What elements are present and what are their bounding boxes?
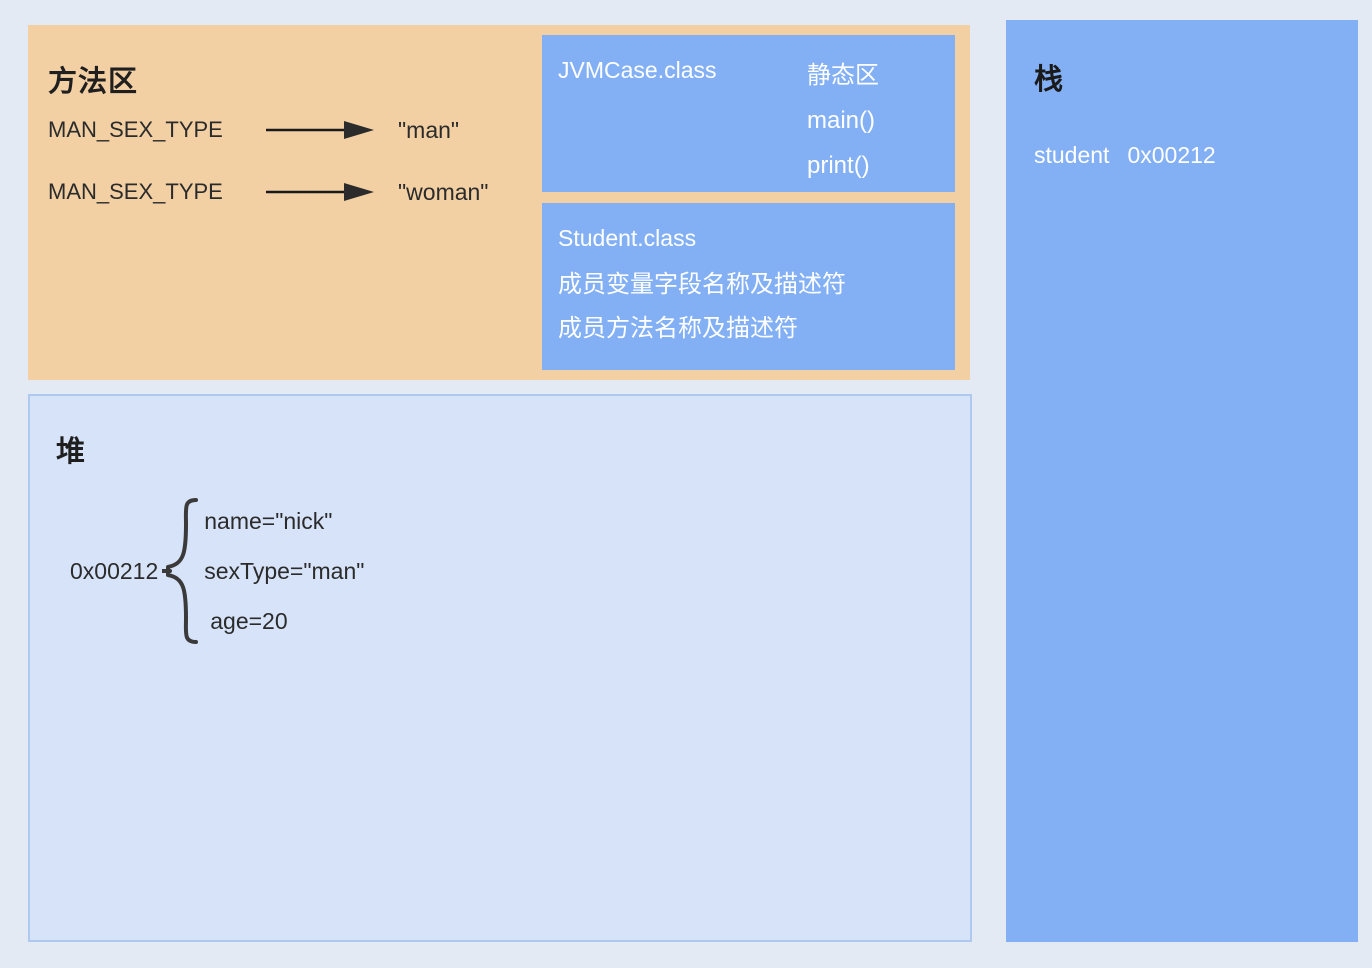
method-print-label: print() bbox=[807, 143, 879, 188]
heap-object-fields: name="nick" sexType="man" age=20 bbox=[204, 496, 364, 646]
static-area-label: 静态区 bbox=[807, 53, 879, 98]
constant-row: MAN_SEX_TYPE "woman" bbox=[48, 177, 488, 207]
heap-object: 0x00212 name="nick" sexType="man" age=20 bbox=[70, 496, 364, 646]
constant-value: "man" bbox=[398, 117, 459, 144]
class-block-title: Student.class bbox=[558, 225, 696, 252]
constant-name: MAN_SEX_TYPE bbox=[48, 179, 262, 205]
stack-variable-address: 0x00212 bbox=[1127, 142, 1215, 168]
heap-field-sextype: sexType="man" bbox=[204, 546, 364, 596]
right-arrow-icon bbox=[266, 181, 374, 203]
class-block-student: Student.class 成员变量字段名称及描述符 成员方法名称及描述符 bbox=[542, 203, 955, 370]
constant-name: MAN_SEX_TYPE bbox=[48, 117, 262, 143]
heap-panel: 堆 0x00212 name="nick" sexType="man" age=… bbox=[28, 394, 972, 942]
class-block-lines: 成员变量字段名称及描述符 成员方法名称及描述符 bbox=[558, 263, 846, 351]
diagram-canvas: 方法区 MAN_SEX_TYPE "man" MAN_SEX_TYPE "wom… bbox=[0, 0, 1372, 968]
stack-variable-name: student bbox=[1034, 142, 1109, 168]
class-block-title: JVMCase.class bbox=[558, 57, 716, 84]
stack-title: 栈 bbox=[1034, 56, 1063, 98]
heap-title: 堆 bbox=[56, 428, 85, 470]
stack-panel: 栈 student0x00212 bbox=[1006, 20, 1358, 942]
method-descriptor-label: 成员方法名称及描述符 bbox=[558, 307, 846, 351]
class-block-static-column: 静态区 main() print() bbox=[807, 53, 879, 188]
method-main-label: main() bbox=[807, 98, 879, 143]
stack-entry: student0x00212 bbox=[1034, 142, 1216, 169]
class-block-jvmcase: JVMCase.class 静态区 main() print() bbox=[542, 35, 955, 192]
right-arrow-icon bbox=[266, 119, 374, 141]
method-area-title: 方法区 bbox=[48, 58, 138, 100]
heap-object-address: 0x00212 bbox=[70, 558, 158, 585]
left-curly-brace-icon bbox=[162, 496, 202, 646]
constant-row: MAN_SEX_TYPE "man" bbox=[48, 115, 459, 145]
heap-field-name: name="nick" bbox=[204, 496, 364, 546]
method-area-panel: 方法区 MAN_SEX_TYPE "man" MAN_SEX_TYPE "wom… bbox=[28, 25, 970, 380]
heap-field-age: age=20 bbox=[204, 596, 364, 646]
constant-value: "woman" bbox=[398, 179, 488, 206]
field-descriptor-label: 成员变量字段名称及描述符 bbox=[558, 263, 846, 307]
